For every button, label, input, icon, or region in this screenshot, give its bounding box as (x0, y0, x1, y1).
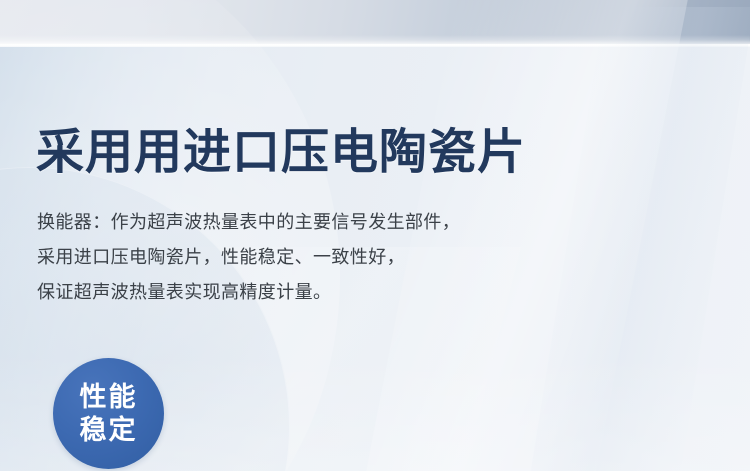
feature-badge-line-2: 稳定 (80, 414, 138, 447)
description-line-2: 采用进口压电陶瓷片，性能稳定、一致性好， (37, 240, 697, 275)
banner-content: 采用用进口压电陶瓷片 换能器：作为超声波热量表中的主要信号发生部件， 采用进口压… (0, 0, 750, 471)
feature-badge: 性能 稳定 (53, 358, 164, 469)
headline: 采用用进口压电陶瓷片 (36, 124, 526, 182)
description-line-3: 保证超声波热量表实现高精度计量。 (37, 275, 697, 310)
product-feature-banner: 采用用进口压电陶瓷片 换能器：作为超声波热量表中的主要信号发生部件， 采用进口压… (0, 0, 750, 471)
description-paragraph: 换能器：作为超声波热量表中的主要信号发生部件， 采用进口压电陶瓷片，性能稳定、一… (37, 205, 697, 310)
feature-badge-line-1: 性能 (80, 381, 138, 414)
description-line-1: 换能器：作为超声波热量表中的主要信号发生部件， (37, 205, 697, 240)
